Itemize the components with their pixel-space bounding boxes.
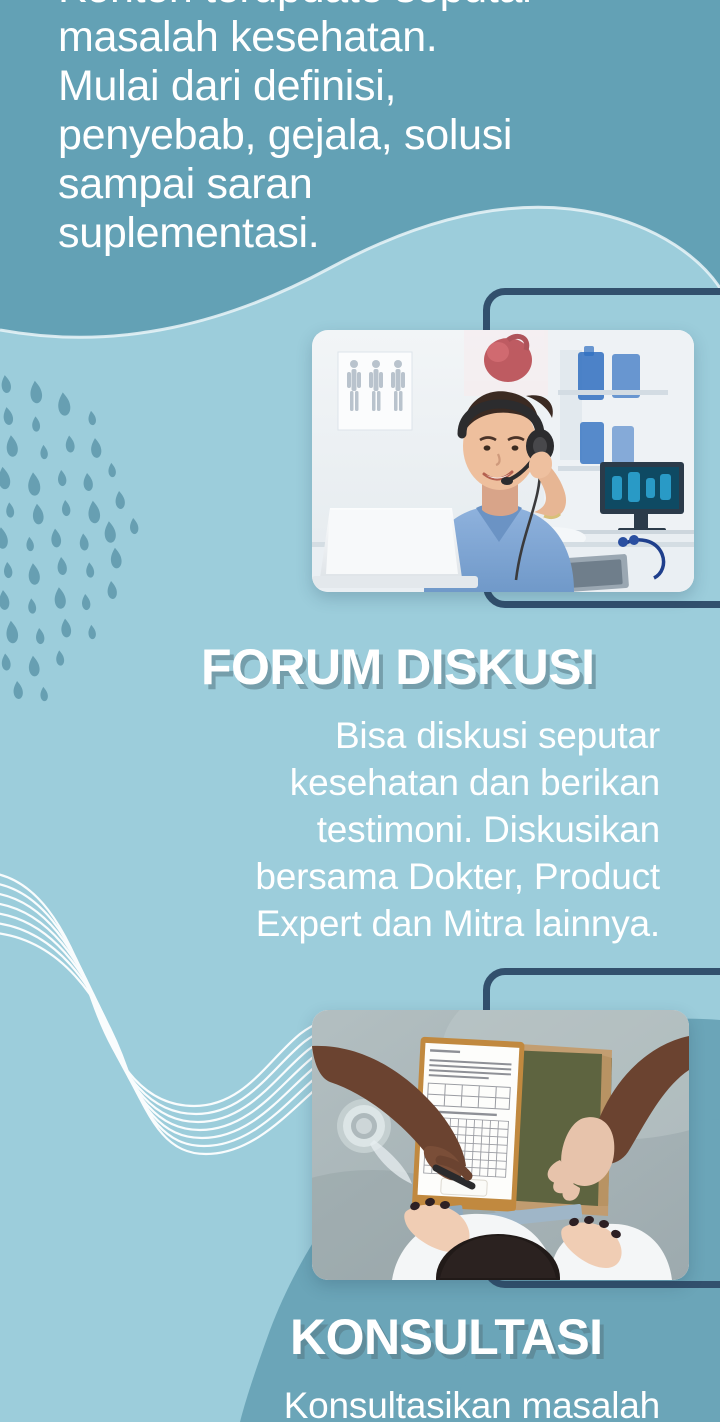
intro-line-5: sampai saran bbox=[58, 160, 698, 209]
forum-copy-line-3: testimoni. Diskusikan bbox=[40, 806, 660, 853]
intro-line-6: suplementasi. bbox=[58, 209, 698, 258]
konsultasi-photo-illustration bbox=[312, 1010, 689, 1280]
intro-line-3: Mulai dari definisi, bbox=[58, 62, 698, 111]
forum-copy-line-4: bersama Dokter, Product bbox=[40, 853, 660, 900]
konsultasi-heading: KONSULTASI bbox=[290, 1308, 603, 1366]
forum-heading: FORUM DISKUSI bbox=[201, 638, 595, 696]
intro-line-1: Konten terupdate seputar bbox=[58, 0, 698, 13]
konsultasi-copy-line-1: Konsultasikan masalah bbox=[40, 1382, 660, 1422]
forum-copy-line-1: Bisa diskusi seputar bbox=[40, 712, 660, 759]
forum-description: Bisa diskusi seputar kesehatan dan berik… bbox=[40, 712, 660, 947]
konsultasi-photo bbox=[312, 1010, 689, 1280]
intro-line-2: masalah kesehatan. bbox=[58, 13, 698, 62]
intro-paragraph: Konten terupdate seputar masalah kesehat… bbox=[58, 0, 698, 258]
forum-copy-line-2: kesehatan dan berikan bbox=[40, 759, 660, 806]
forum-copy-line-5: Expert dan Mitra lainnya. bbox=[40, 900, 660, 947]
konsultasi-description: Konsultasikan masalah bbox=[40, 1382, 660, 1422]
forum-photo-illustration bbox=[312, 330, 694, 592]
intro-line-4: penyebab, gejala, solusi bbox=[58, 111, 698, 160]
forum-photo bbox=[312, 330, 694, 592]
slide-canvas: Konten terupdate seputar masalah kesehat… bbox=[0, 0, 720, 1422]
